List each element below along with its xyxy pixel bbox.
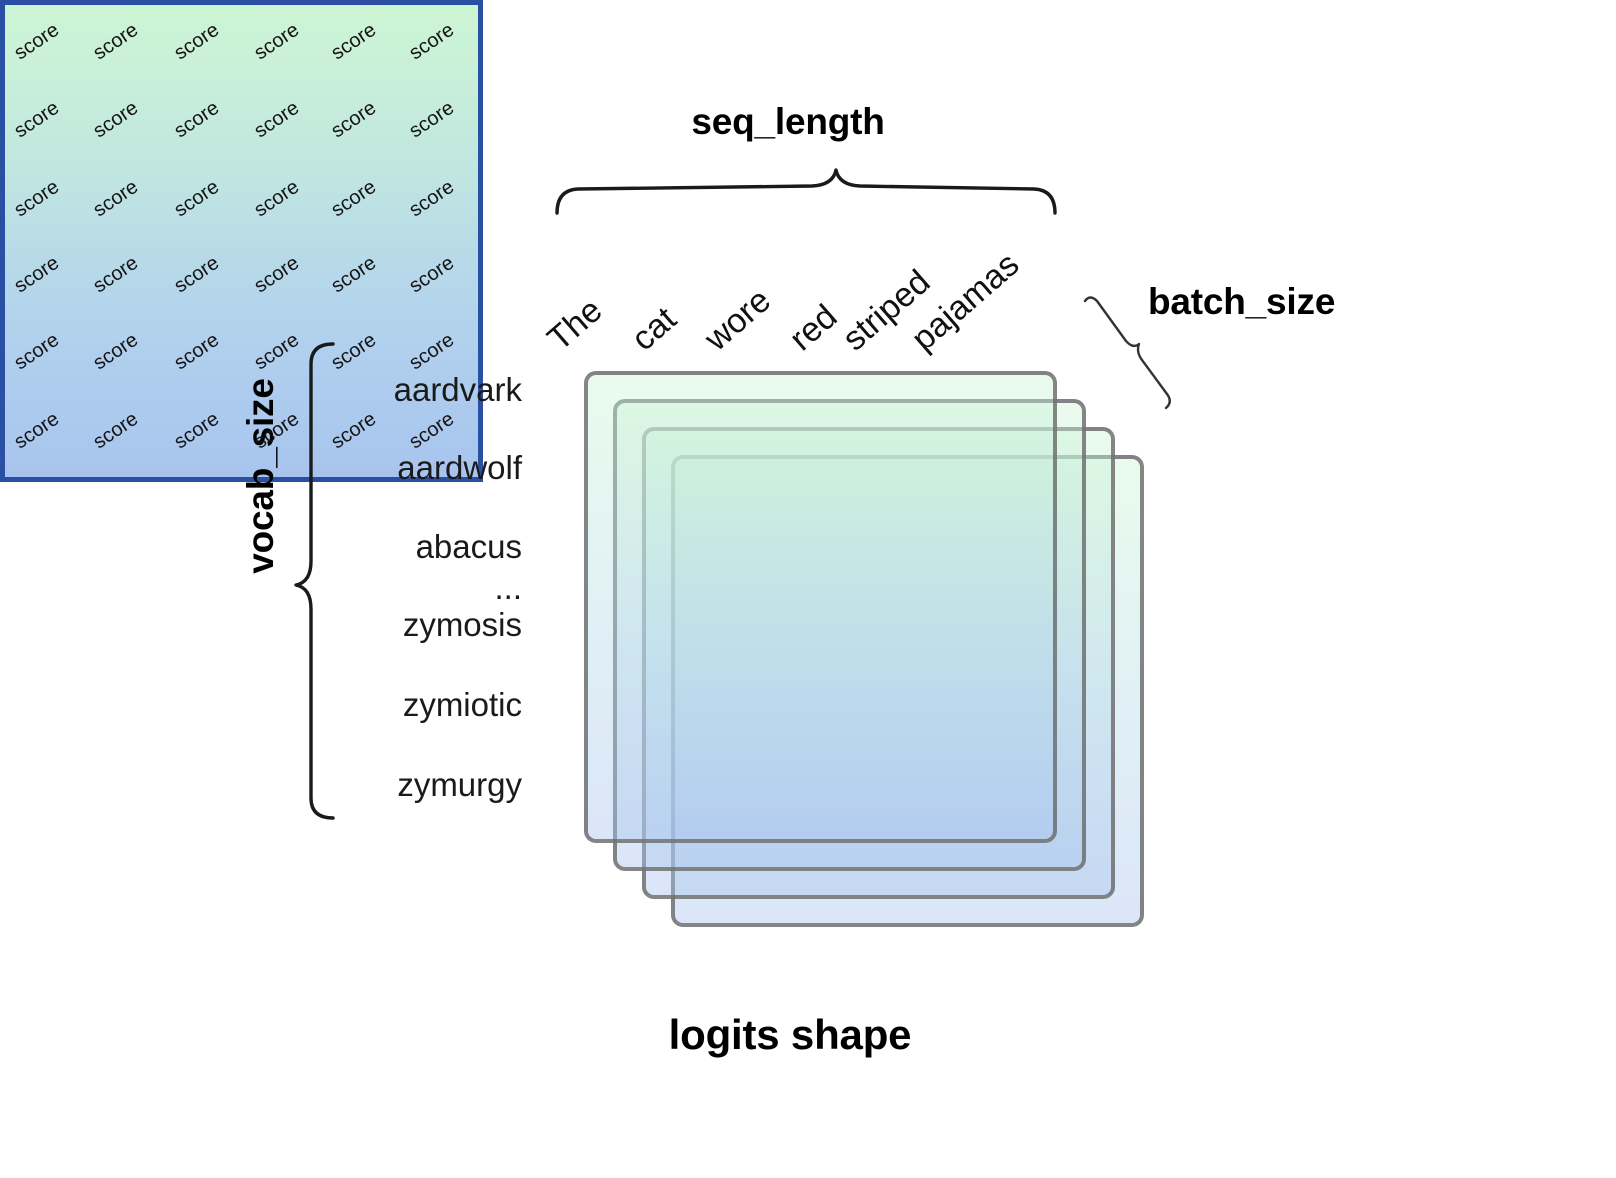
score-cell: score: [89, 408, 142, 454]
vocab-row-label: aardvark: [394, 371, 522, 409]
score-cell: score: [327, 19, 380, 65]
score-cell: score: [250, 176, 303, 222]
seq-length-brace: [557, 170, 1055, 213]
score-cell: score: [10, 176, 63, 222]
token-label: wore: [697, 281, 778, 359]
vocab-row-label: zymiotic: [403, 686, 522, 724]
vocab-row-label: aardwolf: [397, 449, 522, 487]
score-cell: score: [405, 176, 458, 222]
score-cell: score: [250, 19, 303, 65]
score-cell: score: [327, 329, 380, 375]
score-cell: score: [170, 329, 223, 375]
score-cell: score: [170, 176, 223, 222]
score-cell: score: [327, 176, 380, 222]
token-label: The: [540, 291, 610, 359]
score-cell: score: [405, 408, 458, 454]
vocab-row-ellipsis: ...: [494, 569, 522, 607]
score-cell: score: [89, 19, 142, 65]
batch-layer-2: [584, 371, 1057, 843]
score-cell: score: [327, 408, 380, 454]
score-cell: score: [250, 252, 303, 298]
seq-length-dimension-label: seq_length: [0, 101, 1596, 143]
score-cell: score: [89, 329, 142, 375]
vocab-row-label: zymurgy: [397, 766, 522, 804]
score-cell: score: [405, 19, 458, 65]
token-label: cat: [624, 300, 684, 359]
score-cell: score: [405, 329, 458, 375]
vocab-row-label: zymosis: [403, 606, 522, 644]
score-cell: score: [10, 329, 63, 375]
score-cell: score: [170, 408, 223, 454]
score-cell: score: [10, 408, 63, 454]
batch-size-dimension-label: batch_size: [1148, 281, 1335, 323]
score-cell: score: [10, 19, 63, 65]
vocab-size-dimension-label: vocab_size: [240, 371, 282, 581]
score-cell: score: [170, 252, 223, 298]
score-cell: score: [89, 176, 142, 222]
score-cell: score: [327, 252, 380, 298]
score-cell: score: [10, 252, 63, 298]
diagram-canvas: seq_length batch_size vocab_size logits …: [0, 0, 1616, 1178]
score-cell: score: [89, 252, 142, 298]
figure-caption: logits shape: [0, 1011, 1598, 1059]
score-cell: score: [405, 252, 458, 298]
vocab-row-label: abacus: [416, 528, 522, 566]
score-cell: score: [170, 19, 223, 65]
score-cell: score: [250, 329, 303, 375]
